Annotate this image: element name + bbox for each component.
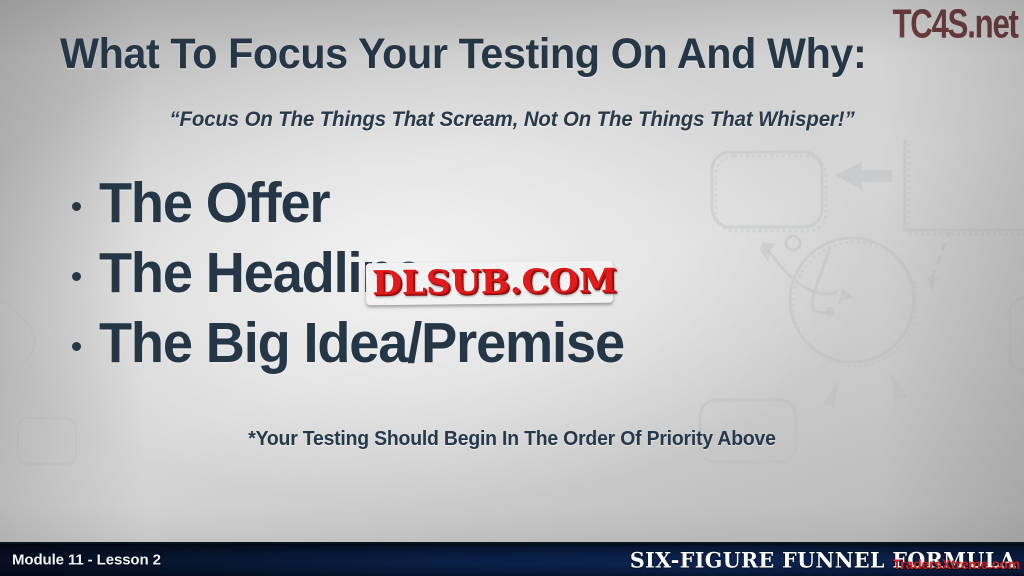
dlsub-watermark-label: DLSUB.COM [372,263,617,302]
list-item-label: The Offer [99,168,329,238]
list-item-label: The Big Idea/Premise [99,308,624,378]
list-item: The Offer [72,168,652,238]
lesson-label: Module 11 - Lesson 2 [12,552,161,569]
footer-bar: Module 11 - Lesson 2 SIX-FIGURE FUNNEL F… [0,542,1024,576]
list-item: The Big Idea/Premise [72,308,652,378]
slide-subtitle-quote: “Focus On The Things That Scream, Not On… [15,108,1008,132]
bullet-dot-icon [72,272,81,281]
bullet-dot-icon [72,342,81,351]
tc4s-watermark: TC4S.net [893,2,1018,48]
dlsub-watermark: DLSUB.COM [366,261,614,306]
slide-content: What To Focus Your Testing On And Why: “… [0,0,1024,576]
tradersxtreme-watermark: TradersXtreme.com [893,556,1020,572]
bullet-dot-icon [72,202,81,211]
page-title: What To Focus Your Testing On And Why: [60,30,866,79]
slide-footnote: *Your Testing Should Begin In The Order … [15,428,1008,451]
presentation-slide: What To Focus Your Testing On And Why: “… [0,0,1024,576]
